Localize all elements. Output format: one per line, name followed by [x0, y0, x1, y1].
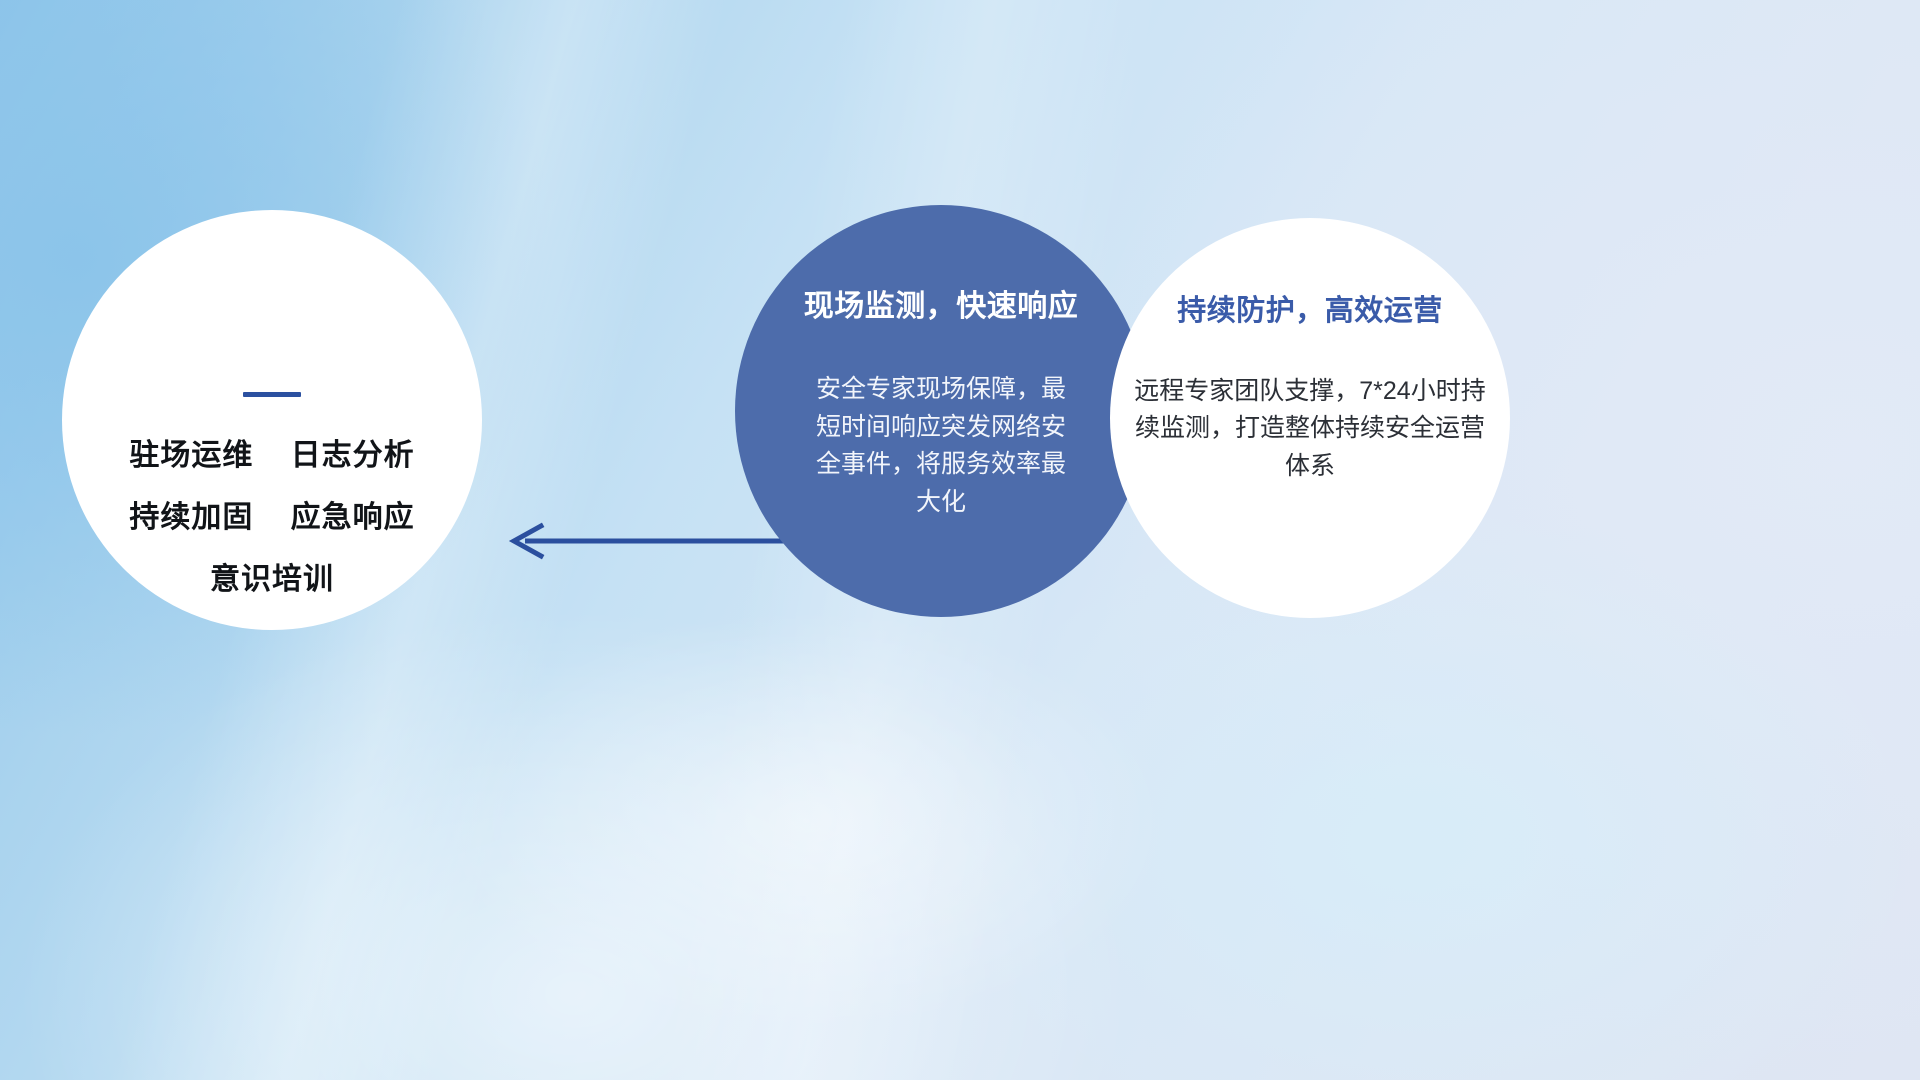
onsite-monitoring-body: 安全专家现场保障，最短时间响应突发网络安全事件，将服务效率最大化	[807, 371, 1075, 521]
onsite-monitoring-circle[interactable]: 现场监测，快速响应 安全专家现场保障，最短时间响应突发网络安全事件，将服务效率最…	[735, 205, 1147, 617]
left-circle-line-3: 意识培训	[210, 565, 334, 595]
left-circle-line-1: 驻场运维 日志分析	[129, 441, 414, 471]
continuous-protection-circle[interactable]: 持续防护，高效运营 远程专家团队支撑，7*24小时持续监测，打造整体持续安全运营…	[1110, 218, 1510, 618]
left-circle-line-2: 持续加固 应急响应	[129, 503, 414, 533]
continuous-protection-body: 远程专家团队支撑，7*24小时持续监测，打造整体持续安全运营体系	[1134, 373, 1486, 486]
slide-canvas: 驻场运维 日志分析 持续加固 应急响应 意识培训 现场监测，快速响应 安全专家现…	[0, 0, 1920, 1080]
onsite-monitoring-heading: 现场监测，快速响应	[804, 289, 1079, 325]
divider-dash	[243, 392, 301, 397]
continuous-protection-heading: 持续防护，高效运营	[1177, 294, 1443, 329]
left-capability-circle[interactable]: 驻场运维 日志分析 持续加固 应急响应 意识培训	[62, 210, 482, 630]
